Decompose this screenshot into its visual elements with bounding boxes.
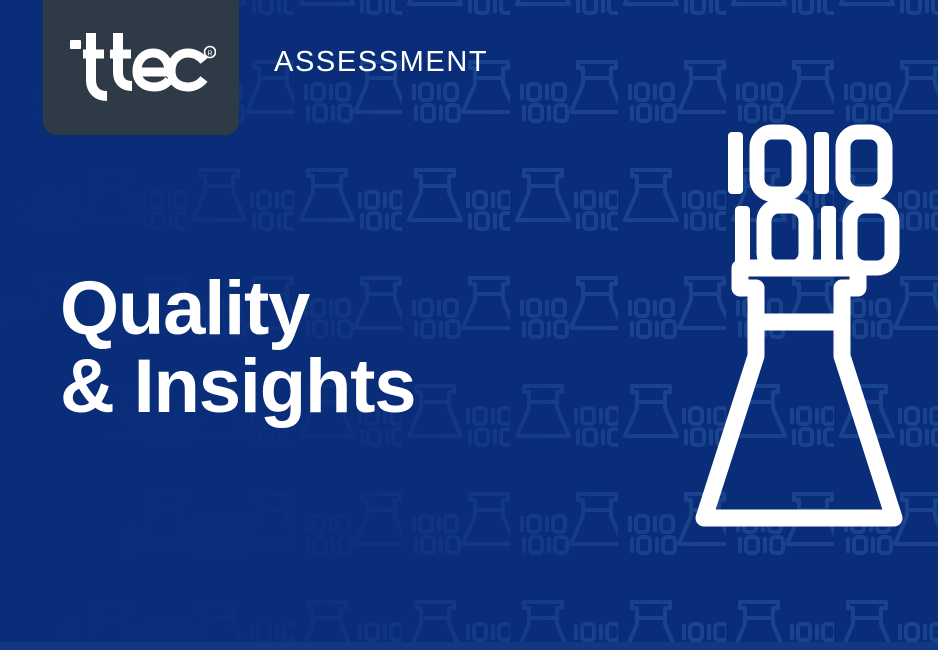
page-title-line-2: & Insights (60, 350, 415, 424)
bottom-accent-band (0, 642, 938, 650)
page-title: Quality & Insights (60, 272, 415, 425)
hero-flask-outline (704, 268, 894, 518)
ttec-logo-icon: R (66, 30, 216, 108)
ttec-logo-block: R (43, 0, 239, 135)
hero-flask-graphic (690, 118, 920, 554)
hero-binary-row-1 (728, 132, 885, 194)
page-title-line-1: Quality (60, 272, 415, 346)
assessment-title-slide: R ASSESSMENT Quality & Insights (0, 0, 938, 650)
svg-text:R: R (207, 50, 212, 57)
eyebrow-label: ASSESSMENT (274, 48, 488, 77)
hero-binary-row-2 (735, 206, 892, 268)
